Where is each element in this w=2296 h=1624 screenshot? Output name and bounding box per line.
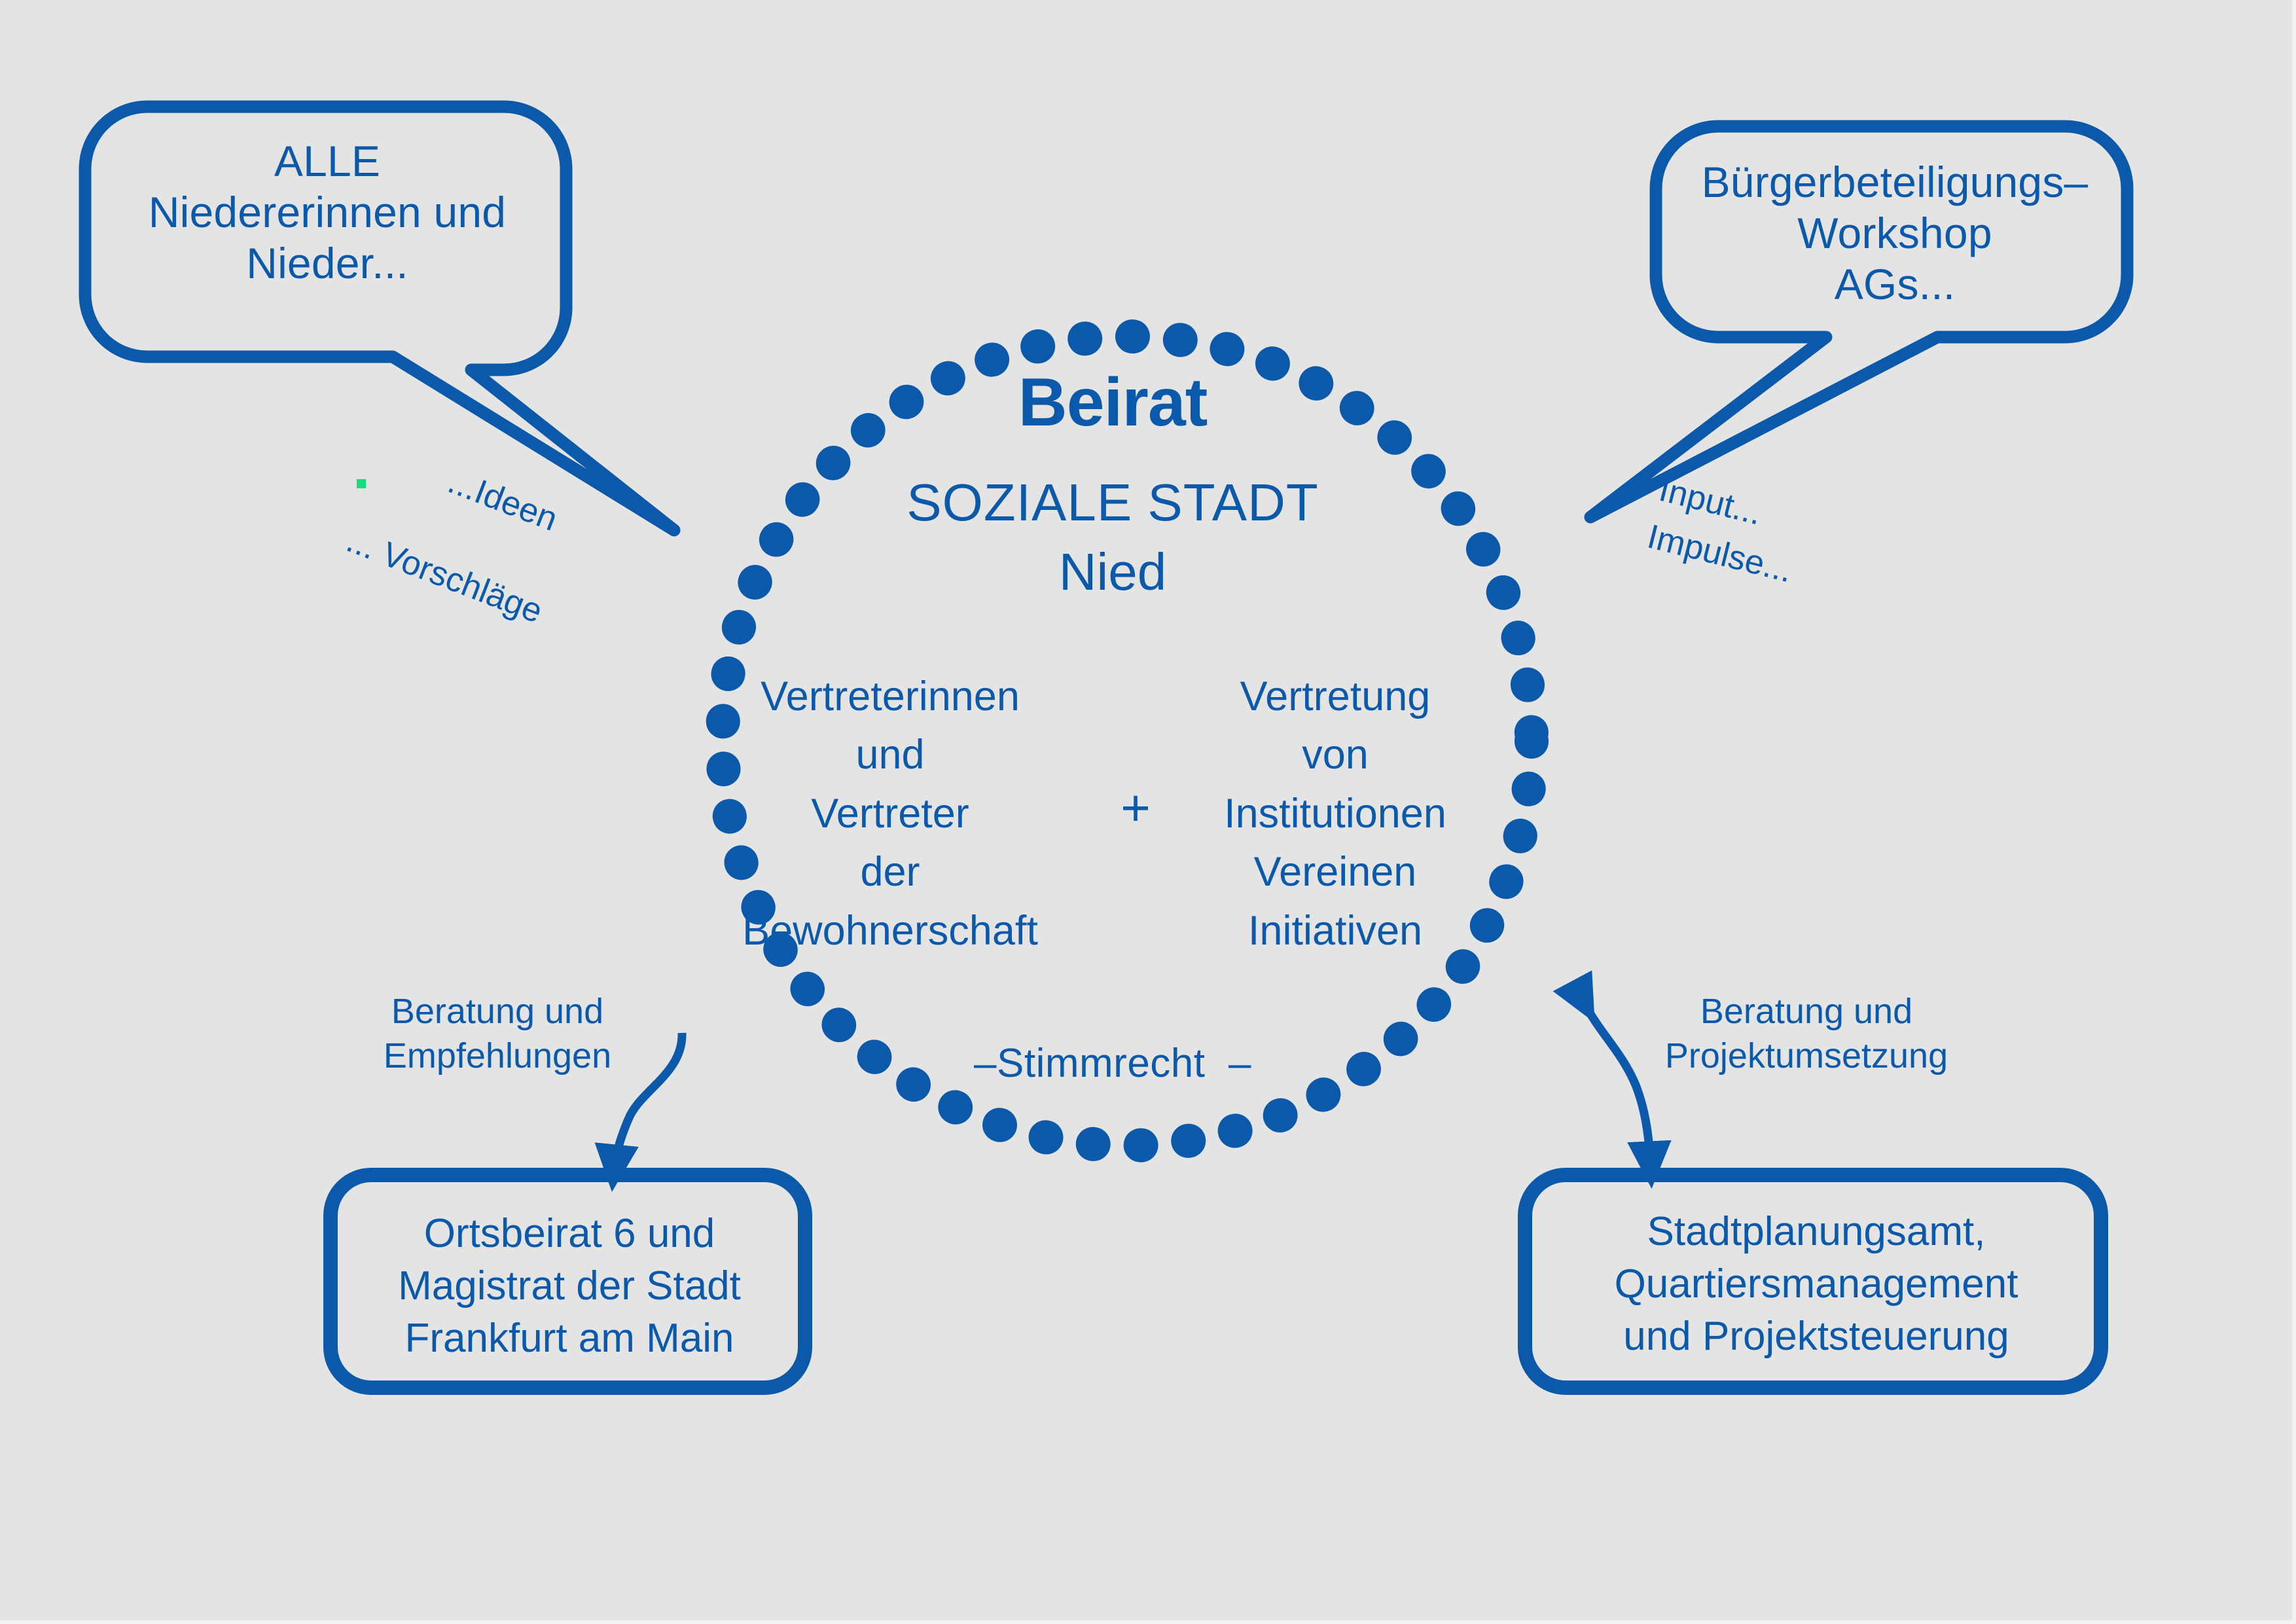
annotation-input-impulse: Input... Impulse...	[1642, 466, 1808, 596]
diagram-canvas: ALLE Niedererinnen und Nieder... Bürgerb…	[0, 0, 2296, 1624]
plus-icon: +	[1086, 779, 1185, 837]
bubble-left-label: ALLE Niedererinnen und Nieder...	[92, 136, 563, 289]
box-left-label: Ortsbeirat 6 und Magistrat der Stadt Fra…	[337, 1208, 802, 1365]
page-title: Beirat	[753, 364, 1473, 442]
annotation-ideen: ...Ideen	[441, 458, 564, 544]
center-footer-stimmrecht: –Stimmrecht –	[916, 1041, 1309, 1087]
green-marker-dot	[357, 479, 366, 488]
bubble-right-label: Bürgerbeteiligungs– Workshop AGs...	[1662, 157, 2127, 310]
annotation-beratung-empfehlungen: Beratung und Empfehlungen	[334, 990, 661, 1078]
annotation-beratung-projektumsetzung: Beratung und Projektumsetzung	[1636, 990, 1977, 1078]
center-left-column: Vertreterinnen und Vertreter der Bewohne…	[694, 668, 1086, 960]
box-right-label: Stadtplanungsamt, Quartiersmanagement un…	[1535, 1206, 2098, 1363]
center-subtitle-line2: Nied	[753, 542, 1473, 602]
center-subtitle-line1: SOZIALE STADT	[753, 473, 1473, 532]
annotation-vorschlaege: ... Vorschläge	[340, 517, 550, 636]
center-right-column: Vertretung von Institutionen Vereinen In…	[1185, 668, 1486, 960]
